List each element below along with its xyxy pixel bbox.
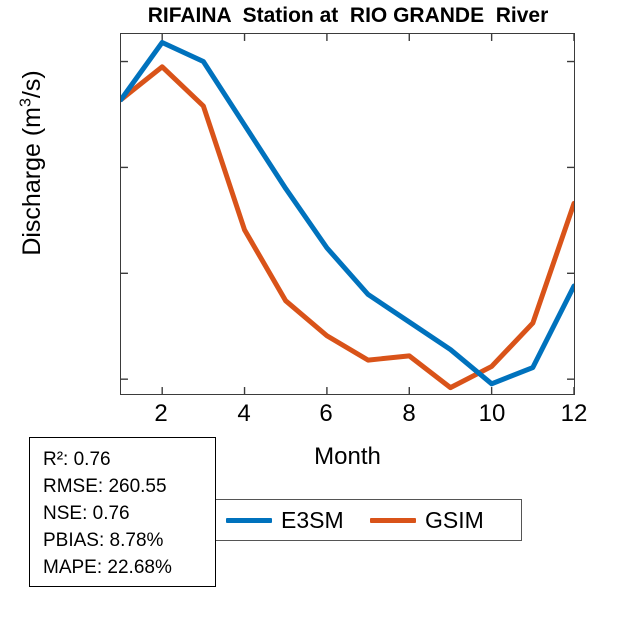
stat-rmse: RMSE: 260.55 [43, 473, 215, 500]
chart-figure: RIFAINA Station at RIO GRANDE River Disc… [0, 0, 625, 625]
x-tick-label-6: 6 [296, 401, 356, 427]
stat-pbias: PBIAS: 8.78% [43, 527, 215, 554]
x-tick-label-8: 8 [379, 401, 439, 427]
legend-label-e3sm: E3SM [281, 509, 344, 532]
legend-label-gsim: GSIM [425, 509, 484, 532]
stat-r2: R²: 0.76 [43, 446, 215, 473]
y-axis-label-exponent: 3 [18, 98, 35, 107]
legend-swatch-e3sm [226, 518, 272, 523]
chart-legend[interactable]: E3SM GSIM [214, 499, 522, 541]
statistics-box: R²: 0.76 RMSE: 260.55 NSE: 0.76 PBIAS: 8… [29, 437, 216, 587]
x-tick-label-4: 4 [214, 401, 274, 427]
y-axis-label-pre: Discharge (m [18, 107, 46, 256]
x-tick-label-12: 12 [544, 401, 604, 427]
stat-nse: NSE: 0.76 [43, 500, 215, 527]
series-line-gsim [121, 67, 574, 388]
legend-entry-gsim[interactable]: GSIM [370, 500, 484, 540]
axis-tick-marks [121, 34, 574, 394]
x-tick-label-2: 2 [131, 401, 191, 427]
plot-area [120, 33, 575, 395]
x-tick-label-10: 10 [462, 401, 522, 427]
legend-swatch-gsim [370, 518, 416, 523]
series-plot [121, 34, 574, 394]
y-axis-label: Discharge (m3/s) [17, 0, 47, 343]
legend-entry-e3sm[interactable]: E3SM [226, 500, 344, 540]
stat-mape: MAPE: 22.68% [43, 554, 215, 581]
y-axis-label-post: /s) [18, 70, 46, 98]
chart-title: RIFAINA Station at RIO GRANDE River [120, 3, 576, 29]
